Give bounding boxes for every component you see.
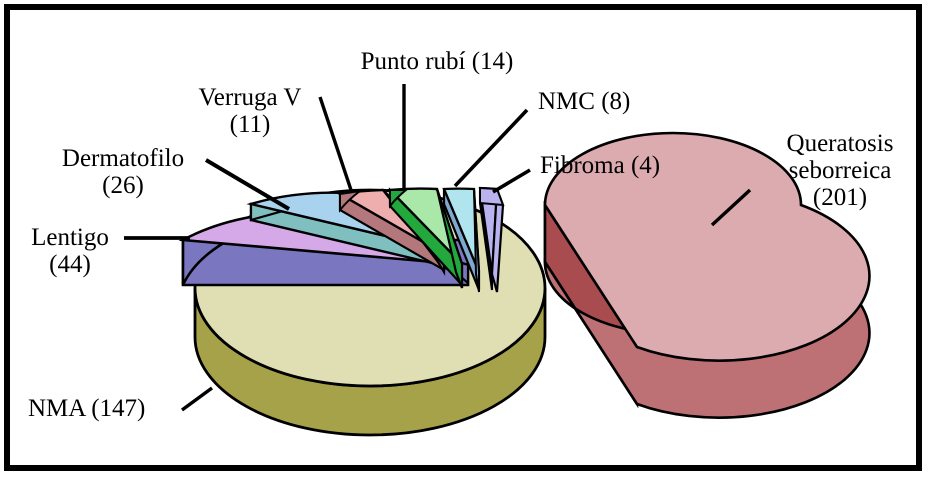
leader-line-nmc bbox=[455, 110, 527, 186]
label-text-punto-rubi: Punto rubí (14) bbox=[361, 48, 514, 75]
label-text-queratosis-line1: Queratosis bbox=[787, 130, 894, 157]
label-text-queratosis-line3: (201) bbox=[752, 184, 928, 211]
label-text-fibroma: Fibroma (4) bbox=[540, 152, 660, 179]
slice-label-nma: NMA (147) bbox=[28, 395, 218, 422]
label-text-nmc: NMC (8) bbox=[538, 88, 630, 115]
leader-line-fibroma bbox=[493, 170, 530, 192]
slice-label-verruga-v: Verruga V (11) bbox=[178, 84, 322, 138]
chart-canvas: Punto rubí (14) Verruga V (11) NMC (8) Q… bbox=[0, 0, 932, 481]
label-text-lentigo-line1: Lentigo bbox=[31, 224, 109, 251]
slice-label-dermatofilo: Dermatofilo (26) bbox=[28, 145, 218, 199]
slice-label-lentigo: Lentigo (44) bbox=[16, 224, 124, 278]
label-text-nma: NMA (147) bbox=[28, 395, 145, 422]
label-text-queratosis-line2: seborreica bbox=[752, 157, 928, 184]
slice-label-nmc: NMC (8) bbox=[538, 88, 698, 115]
slice-label-fibroma: Fibroma (4) bbox=[540, 152, 730, 179]
slice-label-queratosis-seborreica: Queratosis seborreica (201) bbox=[752, 130, 928, 211]
label-text-verruga-v-line1: Verruga V bbox=[199, 84, 302, 111]
label-text-lentigo-line2: (44) bbox=[16, 251, 124, 278]
leader-line-verruga-v bbox=[320, 97, 352, 193]
slice-label-punto-rubi: Punto rubí (14) bbox=[332, 48, 542, 75]
label-text-dermatofilo-line1: Dermatofilo bbox=[62, 145, 184, 172]
label-text-dermatofilo-line2: (26) bbox=[28, 172, 218, 199]
leader-line-dermatofilo bbox=[206, 160, 289, 209]
label-text-verruga-v-line2: (11) bbox=[178, 111, 322, 138]
